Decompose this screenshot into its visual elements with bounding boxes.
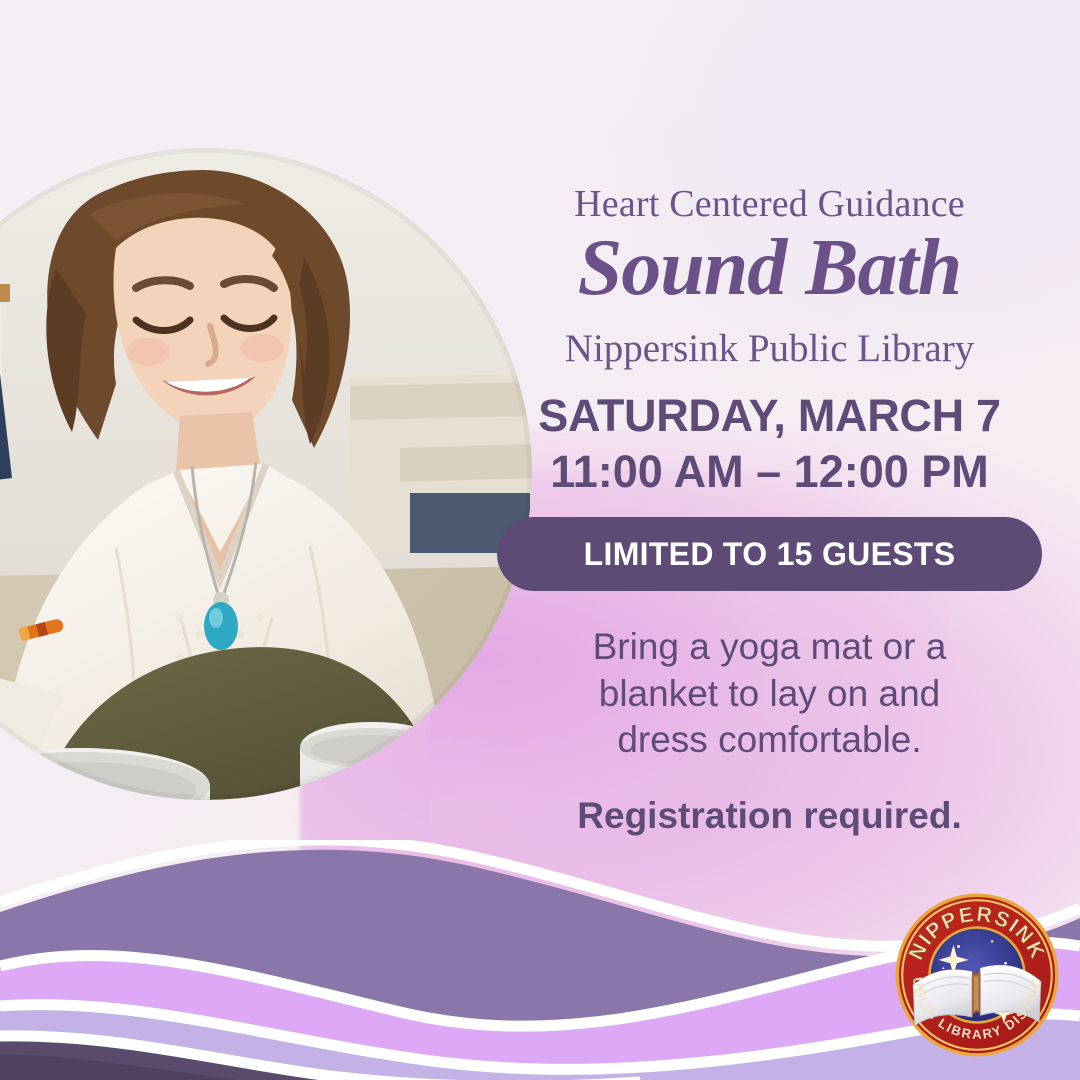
capacity-badge: LIMITED TO 15 GUESTS	[497, 517, 1042, 591]
organization-name: Nippersink Public Library	[497, 328, 1042, 371]
instructions-line-1: Bring a yoga mat or a	[497, 624, 1042, 671]
event-datetime: SATURDAY, MARCH 7 11:00 AM – 12:00 PM	[497, 388, 1042, 501]
library-logo: NIPPERSINK PUBLIC LIBRARY DISTRICT	[893, 891, 1061, 1059]
event-kicker: Heart Centered Guidance	[497, 184, 1042, 226]
poster-canvas: Heart Centered Guidance Sound Bath Nippe…	[0, 0, 1080, 1080]
event-instructions: Bring a yoga mat or a blanket to lay on …	[497, 624, 1042, 764]
capacity-badge-label: LIMITED TO 15 GUESTS	[584, 536, 956, 573]
instructions-line-3: dress comfortable.	[497, 717, 1042, 764]
page-title: Sound Bath	[497, 222, 1042, 314]
event-date: SATURDAY, MARCH 7	[497, 388, 1042, 444]
instructions-line-2: blanket to lay on and	[497, 671, 1042, 718]
event-time: 11:00 AM – 12:00 PM	[497, 444, 1042, 500]
registration-note: Registration required.	[497, 795, 1042, 837]
